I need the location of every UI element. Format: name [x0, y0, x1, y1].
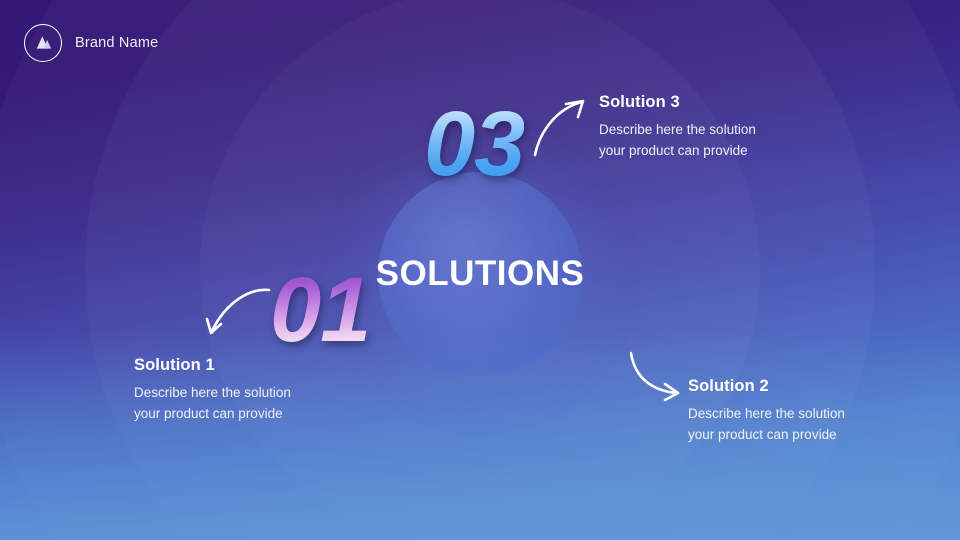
- solution-block-2: Solution 2 Describe here the solution yo…: [688, 377, 845, 446]
- solution-1-title: Solution 1: [134, 356, 291, 375]
- center-label: SOLUTIONS: [378, 172, 582, 376]
- solution-block-1: Solution 1 Describe here the solution yo…: [134, 356, 291, 425]
- curved-arrow-up-right-icon: [530, 94, 592, 165]
- brand-name-label: Brand Name: [75, 35, 158, 51]
- solution-2-title: Solution 2: [688, 377, 845, 396]
- mountain-icon: [24, 24, 62, 62]
- solution-block-3: Solution 3 Describe here the solution yo…: [599, 93, 756, 162]
- slide-canvas: Brand Name SOLUTIONS 03 01 02 Solution 3…: [0, 0, 960, 540]
- curved-arrow-down-right-icon: [626, 348, 688, 411]
- numeral-02: 02: [580, 258, 680, 350]
- brand-lockup[interactable]: Brand Name: [24, 24, 158, 62]
- numeral-01: 01: [270, 264, 370, 356]
- solution-1-description: Describe here the solution your product …: [134, 383, 291, 425]
- solution-2-description: Describe here the solution your product …: [688, 404, 845, 446]
- solution-3-title: Solution 3: [599, 93, 756, 112]
- solution-3-description: Describe here the solution your product …: [599, 120, 756, 162]
- numeral-03: 03: [424, 98, 524, 190]
- curved-arrow-down-left-icon: [202, 282, 274, 347]
